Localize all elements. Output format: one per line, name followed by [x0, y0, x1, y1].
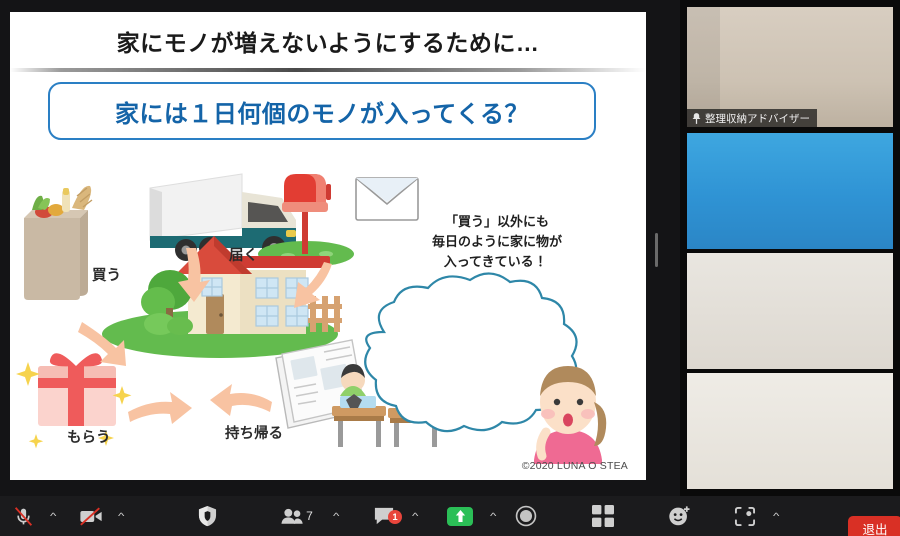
slide-copyright: ©2020 LUNA O STEA	[522, 460, 628, 472]
participants-count: 7	[306, 509, 313, 523]
presentation-slide: 家にモノが増えないようにするために… 家には１日何個のモノが入ってくる？	[10, 12, 646, 480]
shield-icon	[198, 505, 217, 527]
leave-meeting-button[interactable]: 退出	[848, 516, 900, 536]
leave-label: 退出	[862, 519, 887, 536]
thinking-woman-icon	[534, 366, 606, 464]
microphone-muted-icon	[13, 506, 34, 527]
chat-options-caret[interactable]: ^	[404, 496, 426, 536]
record-button[interactable]	[508, 496, 544, 536]
diagram-label-bring-home: 持ち帰る	[225, 422, 283, 443]
diagram-label-delivered: 届く	[229, 244, 258, 265]
participants-options-caret[interactable]: ^	[325, 496, 347, 536]
diagram-label-buy: 買う	[92, 264, 121, 285]
title-divider	[10, 68, 646, 72]
grocery-bag-icon	[24, 186, 92, 300]
breakout-rooms-icon	[592, 505, 614, 527]
chat-unread-badge: 1	[388, 510, 402, 524]
participants-icon	[281, 508, 303, 524]
share-screen-button[interactable]	[442, 496, 478, 536]
apps-options-caret[interactable]: ^	[765, 496, 787, 536]
share-options-caret[interactable]: ^	[482, 496, 504, 536]
video-filmstrip: 整理収納アドバイザー	[680, 0, 900, 496]
question-callout-box: 家には１日何個のモノが入ってくる？	[48, 82, 596, 140]
security-button[interactable]	[190, 496, 224, 536]
zoom-meeting-window: 家にモノが増えないようにするために… 家には１日何個のモノが入ってくる？	[0, 0, 900, 536]
question-text: 家には１日何個のモノが入ってくる？	[115, 94, 529, 129]
shared-screen-stage[interactable]: 家にモノが増えないようにするために… 家には１日何個のモノが入ってくる？	[0, 0, 680, 496]
slide-title: 家にモノが増えないようにするために…	[10, 18, 646, 64]
tile-2-background	[687, 133, 893, 249]
reactions-button[interactable]	[661, 496, 697, 536]
breakout-rooms-button[interactable]	[585, 496, 621, 536]
stop-video-button[interactable]	[74, 496, 108, 536]
upload-arrow-icon	[454, 509, 467, 523]
apps-frame-icon	[734, 506, 756, 527]
reactions-smiley-icon	[668, 505, 691, 527]
slide-diagram: 買う 届く もらう 持ち帰る	[10, 144, 646, 464]
share-panel-drag-handle[interactable]	[655, 233, 658, 267]
participants-button[interactable]: 7	[272, 496, 322, 536]
video-off-icon	[79, 506, 103, 527]
record-circle-icon	[515, 505, 537, 527]
share-screen-icon	[447, 507, 473, 526]
video-tile-4[interactable]	[687, 373, 893, 489]
tile-1-name-text: 整理収納アドバイザー	[705, 111, 810, 126]
meeting-toolbar: ^ ^ 7	[0, 496, 900, 536]
diagram-label-receive: もらう	[67, 426, 111, 447]
video-tile-3[interactable]	[687, 253, 893, 369]
thought-bubble-text: 「買う」以外にも 毎日のように家に物が 入ってきている ！	[382, 212, 612, 272]
pin-icon	[692, 113, 701, 124]
video-tile-1[interactable]: 整理収納アドバイザー	[687, 7, 893, 127]
tile-1-name-label: 整理収納アドバイザー	[687, 109, 817, 127]
mic-options-caret[interactable]: ^	[42, 496, 64, 536]
diagram-illustration	[10, 144, 646, 464]
chat-button[interactable]: 1	[366, 496, 402, 536]
mute-button[interactable]	[6, 496, 40, 536]
video-tile-2[interactable]	[687, 133, 893, 249]
apps-button[interactable]	[727, 496, 763, 536]
tile-3-background	[687, 253, 893, 369]
tile-4-background	[687, 373, 893, 489]
video-options-caret[interactable]: ^	[110, 496, 132, 536]
